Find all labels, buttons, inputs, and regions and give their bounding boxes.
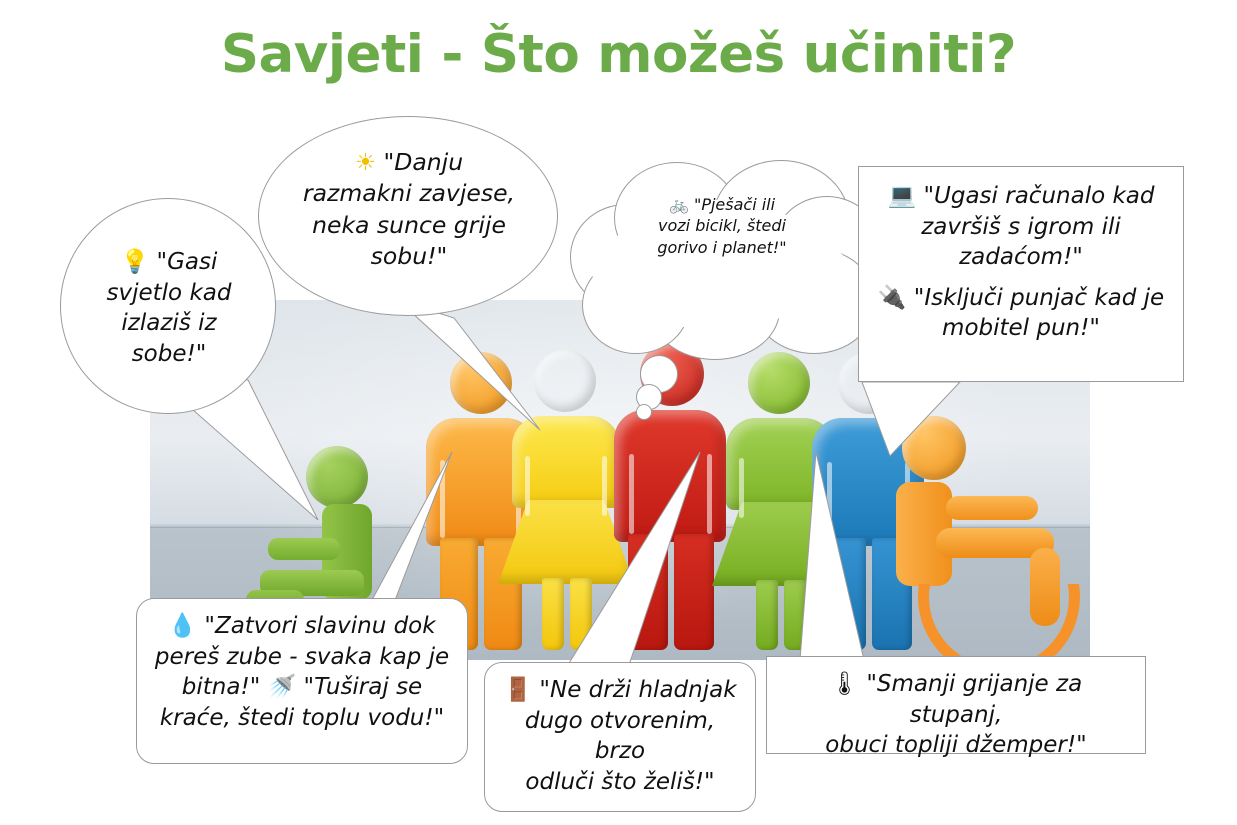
tip-line: gorivo i planet!" [596, 237, 848, 258]
tip-bubble-fridge[interactable]: 🚪 "Ne drži hladnjak dugo otvorenim, brzo… [484, 662, 756, 812]
poster-canvas: Savjeti - Što možeš učiniti? [0, 0, 1237, 825]
tip-line: obuci topliji džemper!" [781, 730, 1131, 761]
tip-line: završiš s igrom ili [871, 212, 1171, 243]
tip-line: 🌡 "Smanji grijanje za stupanj, [781, 669, 1131, 730]
tip-bubble-bike[interactable]: 🚲 "Pješači ili vozi bicikl, štedi gorivo… [562, 160, 882, 360]
tip-line: odluči što želiš!" [497, 767, 743, 798]
shower-icon: 🚿 [268, 672, 297, 703]
laptop-icon: 💻 [888, 181, 917, 212]
tip-line: 🔌 "Isključi punjač kad je [871, 283, 1171, 314]
tip-line: neka sunce grije [281, 210, 537, 241]
tip-line: sobe!" [79, 339, 259, 370]
tip-bubble-light[interactable]: 💡 "Gasi svjetlo kad izlaziš iz sobe!" [60, 198, 276, 414]
tip-line: kraće, štedi toplu vodu!" [151, 703, 453, 734]
tip-bubble-heating[interactable]: 🌡 "Smanji grijanje za stupanj, obuci top… [766, 656, 1146, 754]
tip-bubble-computer[interactable]: 💻 "Ugasi računalo kad završiš s igrom il… [858, 166, 1184, 382]
tip-line: razmakni zavjese, [281, 178, 537, 209]
tip-line: bitna!" 🚿 "Tuširaj se [151, 672, 453, 703]
tip-line: 💧 "Zatvori slavinu dok [151, 611, 453, 642]
tip-bubble-sun[interactable]: ☀ "Danju razmakni zavjese, neka sunce gr… [258, 116, 558, 316]
tip-line: 💻 "Ugasi računalo kad [871, 181, 1171, 212]
tip-line: pereš zube - svaka kap je [151, 642, 453, 673]
bicycle-icon: 🚲 [669, 194, 689, 215]
tip-line: zadaćom!" [871, 242, 1171, 273]
tip-line: dugo otvorenim, brzo [497, 706, 743, 767]
lightbulb-icon: 💡 [121, 247, 150, 278]
door-icon: 🚪 [503, 675, 532, 706]
plug-icon: 🔌 [878, 283, 907, 314]
thermometer-icon: 🌡 [830, 669, 859, 700]
tip-line: 🚪 "Ne drži hladnjak [497, 675, 743, 706]
tip-bubble-water[interactable]: 💧 "Zatvori slavinu dok pereš zube - svak… [136, 598, 468, 764]
tip-line: svjetlo kad [79, 278, 259, 309]
tip-line: mobitel pun!" [871, 313, 1171, 344]
tip-line: izlaziš iz [79, 308, 259, 339]
tip-line: ☀ "Danju [281, 147, 537, 178]
water-drop-icon: 💧 [168, 611, 197, 642]
thought-tail-dot-small [636, 404, 652, 420]
tip-line-part: "Tuširaj se [304, 674, 423, 700]
tip-line: vozi bicikl, štedi [596, 215, 848, 236]
tip-line: sobu!" [281, 241, 537, 272]
tip-line: 🚲 "Pješači ili [596, 194, 848, 215]
tip-line: 💡 "Gasi [79, 247, 259, 278]
sun-icon: ☀ [355, 147, 376, 178]
